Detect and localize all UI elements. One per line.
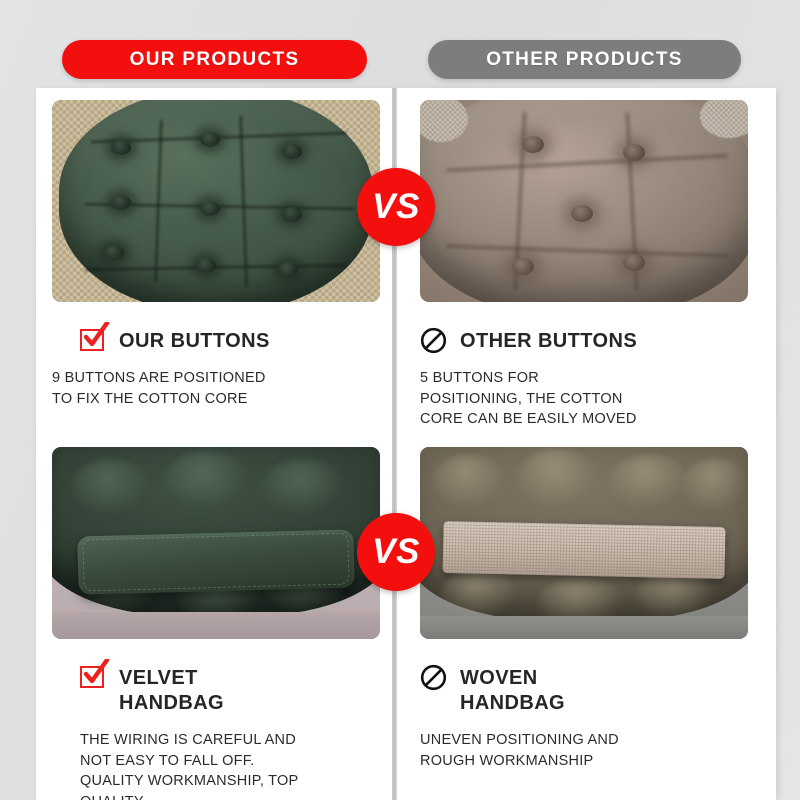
caption-heading-row: WOVEN HANDBAG [420,663,760,716]
caption-body: 9 BUTTONS ARE POSITIONED TO FIX THE COTT… [52,368,392,409]
cushion-body [420,100,748,302]
tuft-button [196,258,216,273]
cell-velvet-handbag: VELVET HANDBAG THE WIRING IS CAREFUL AND… [52,447,392,800]
caption-body: THE WIRING IS CAREFUL AND NOT EASY TO FA… [52,730,392,800]
caption-other-buttons: OTHER BUTTONS 5 BUTTONS FOR POSITIONING,… [420,326,760,430]
caption-heading-row: OUR BUTTONS [52,326,392,354]
taupe-tufted-cushion-photo [420,100,748,302]
velvet-strap [78,530,355,595]
caption-title: OUR BUTTONS [119,326,270,354]
tuft-button [111,195,131,210]
header-badge-other-products: OTHER PRODUCTS [428,40,741,79]
tuft-button [278,262,298,277]
quilt-puff [262,459,347,517]
check-box-icon [80,326,106,352]
tuft-button [200,132,220,147]
quilt-puff [72,459,151,517]
caption-body: UNEVEN POSITIONING AND ROUGH WORKMANSHIP [420,730,760,771]
woven-strap [442,521,725,579]
caption-heading-row: VELVET HANDBAG [52,663,392,716]
header-badge-our-products: OUR PRODUCTS [62,40,367,79]
caption-title: OTHER BUTTONS [460,326,637,354]
quilt-puff [164,451,249,509]
floor-strip [420,616,748,639]
caption-heading-row: OTHER BUTTONS [420,326,760,354]
check-box-icon [80,663,106,689]
prohibition-icon [420,664,447,691]
floor-strip [52,612,380,639]
tuft-button [522,136,544,153]
caption-title: VELVET HANDBAG [119,663,224,716]
cell-woven-handbag: WOVEN HANDBAG UNEVEN POSITIONING AND ROU… [420,447,760,771]
caption-title: WOVEN HANDBAG [460,663,565,716]
tuft-button [512,258,534,275]
green-tufted-cushion-photo [52,100,380,302]
quilt-puff [518,449,597,507]
quilt-puff [440,570,519,620]
vs-badge-bottom: VS [357,513,435,591]
prohibition-icon [420,327,447,354]
green-velvet-handle-photo [52,447,380,639]
caption-velvet-handbag: VELVET HANDBAG THE WIRING IS CAREFUL AND… [52,663,392,800]
cell-our-buttons: OUR BUTTONS 9 BUTTONS ARE POSITIONED TO … [52,100,392,409]
tuft-button [200,201,220,216]
caption-body: 5 BUTTONS FOR POSITIONING, THE COTTON CO… [420,368,760,430]
tuft-button [623,254,645,271]
cell-other-buttons: OTHER BUTTONS 5 BUTTONS FOR POSITIONING,… [420,100,760,430]
tuft-button [571,205,593,222]
woven-strap-handle-photo [420,447,748,639]
cushion-body [59,100,374,302]
quilt-puff [682,459,748,513]
tuft-button [282,207,302,222]
vs-badge-top: VS [357,168,435,246]
quilt-puff [610,455,689,509]
caption-our-buttons: OUR BUTTONS 9 BUTTONS ARE POSITIONED TO … [52,326,392,409]
caption-woven-handbag: WOVEN HANDBAG UNEVEN POSITIONING AND ROU… [420,663,760,771]
